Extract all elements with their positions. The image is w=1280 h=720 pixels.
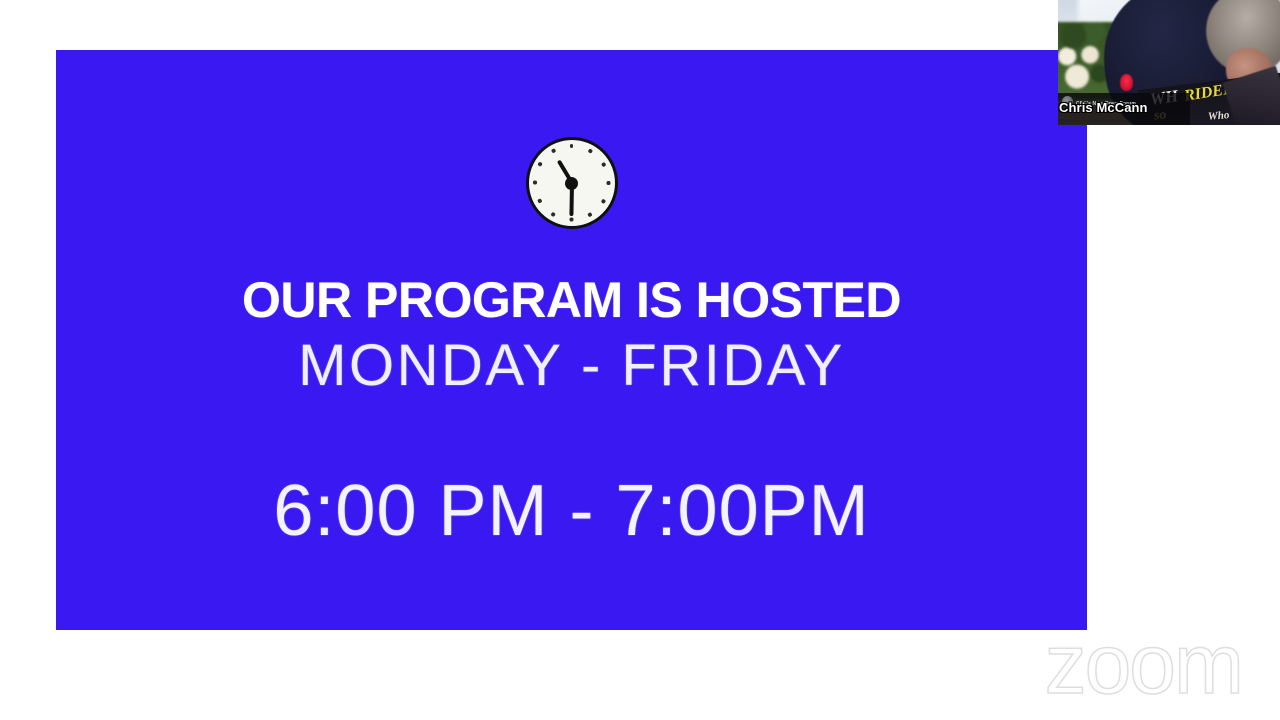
slide-headline: OUR PROGRAM IS HOSTED [56, 275, 1087, 325]
slide-text-block: OUR PROGRAM IS HOSTED MONDAY - FRIDAY 6:… [56, 275, 1087, 547]
clock-tick [551, 213, 556, 218]
clock-icon [526, 137, 618, 229]
zoom-watermark: zoom [1045, 622, 1242, 706]
clock-tick [601, 199, 606, 204]
clock-tick [588, 213, 593, 218]
clock-tick [537, 162, 542, 167]
clock-tick [570, 144, 574, 148]
clock-tick [601, 162, 606, 167]
slide-time-range: 6:00 PM - 7:00PM [56, 475, 1087, 547]
slide-subline-days: MONDAY - FRIDAY [56, 337, 1087, 395]
clock-graphic-wrapper [56, 137, 1087, 229]
video-shirt-logo [1120, 74, 1133, 91]
clock-tick [607, 181, 611, 185]
clock-tick [537, 199, 542, 204]
clock-tick [551, 149, 556, 154]
clock-tick [533, 181, 537, 185]
clock-tick [588, 149, 593, 154]
participant-name-label: Chris McCann [1059, 100, 1148, 115]
zoom-meeting-stage: OUR PROGRAM IS HOSTED MONDAY - FRIDAY 6:… [0, 0, 1280, 720]
clock-tick [570, 218, 574, 222]
shared-screen-slide: OUR PROGRAM IS HOSTED MONDAY - FRIDAY 6:… [56, 50, 1087, 630]
clock-center-pin [565, 177, 578, 190]
